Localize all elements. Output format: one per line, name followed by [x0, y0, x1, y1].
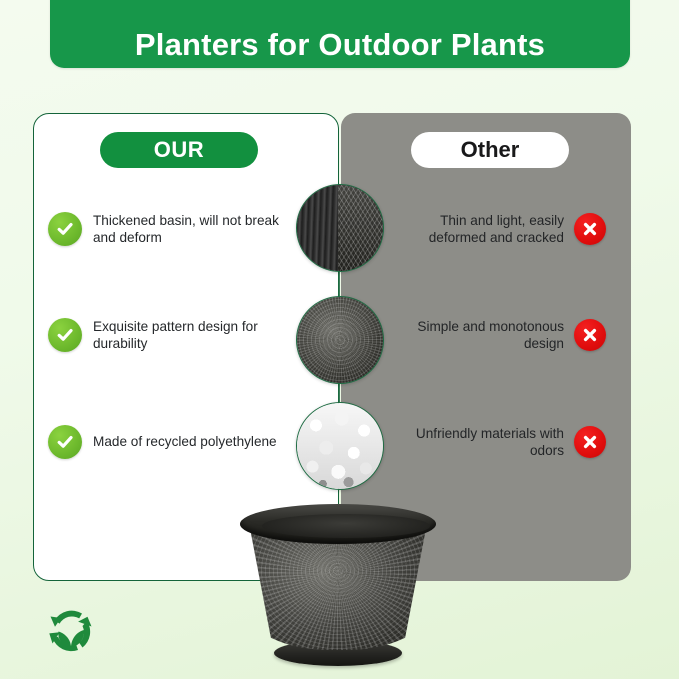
planter-rim-inner: [262, 514, 430, 538]
other-drawback-text: Simple and monotonous design: [381, 318, 564, 353]
our-feature-text: Exquisite pattern design for durability: [93, 318, 298, 353]
planter-rim: [240, 504, 436, 544]
other-badge-label: Other: [461, 137, 520, 163]
check-circle-icon: [48, 212, 82, 246]
our-badge-label: OUR: [154, 137, 204, 163]
our-feature-text: Made of recycled polyethylene: [93, 433, 277, 450]
planter-product-image: [232, 500, 444, 676]
x-circle-icon: [574, 426, 606, 458]
woven-pattern-closeup: [296, 296, 384, 384]
our-feature-row: Made of recycled polyethylene: [48, 425, 298, 459]
circle-connector: [338, 382, 340, 402]
page-title: Planters for Outdoor Plants: [135, 29, 545, 60]
infographic-root: Planters for Outdoor Plants OUR Other Th…: [0, 0, 679, 679]
recycled-pellets-closeup: [296, 402, 384, 490]
our-badge: OUR: [100, 132, 258, 168]
check-circle-icon: [48, 425, 82, 459]
recycle-leaf-icon: [40, 600, 102, 662]
other-drawback-row: Thin and light, easily deformed and crac…: [381, 212, 606, 247]
other-drawback-row: Unfriendly materials with odors: [381, 425, 606, 460]
other-drawback-row: Simple and monotonous design: [381, 318, 606, 353]
our-feature-text: Thickened basin, will not break and defo…: [93, 212, 298, 247]
circle-connector: [338, 270, 340, 296]
our-feature-row: Exquisite pattern design for durability: [48, 318, 298, 353]
check-circle-icon: [48, 318, 82, 352]
other-badge: Other: [411, 132, 569, 168]
other-drawback-text: Unfriendly materials with odors: [381, 425, 564, 460]
other-drawback-text: Thin and light, easily deformed and crac…: [381, 212, 564, 247]
title-banner: Planters for Outdoor Plants: [50, 0, 630, 68]
pot-rim-thickness-closeup: [296, 184, 384, 272]
x-circle-icon: [574, 319, 606, 351]
x-circle-icon: [574, 213, 606, 245]
our-feature-row: Thickened basin, will not break and defo…: [48, 212, 298, 247]
